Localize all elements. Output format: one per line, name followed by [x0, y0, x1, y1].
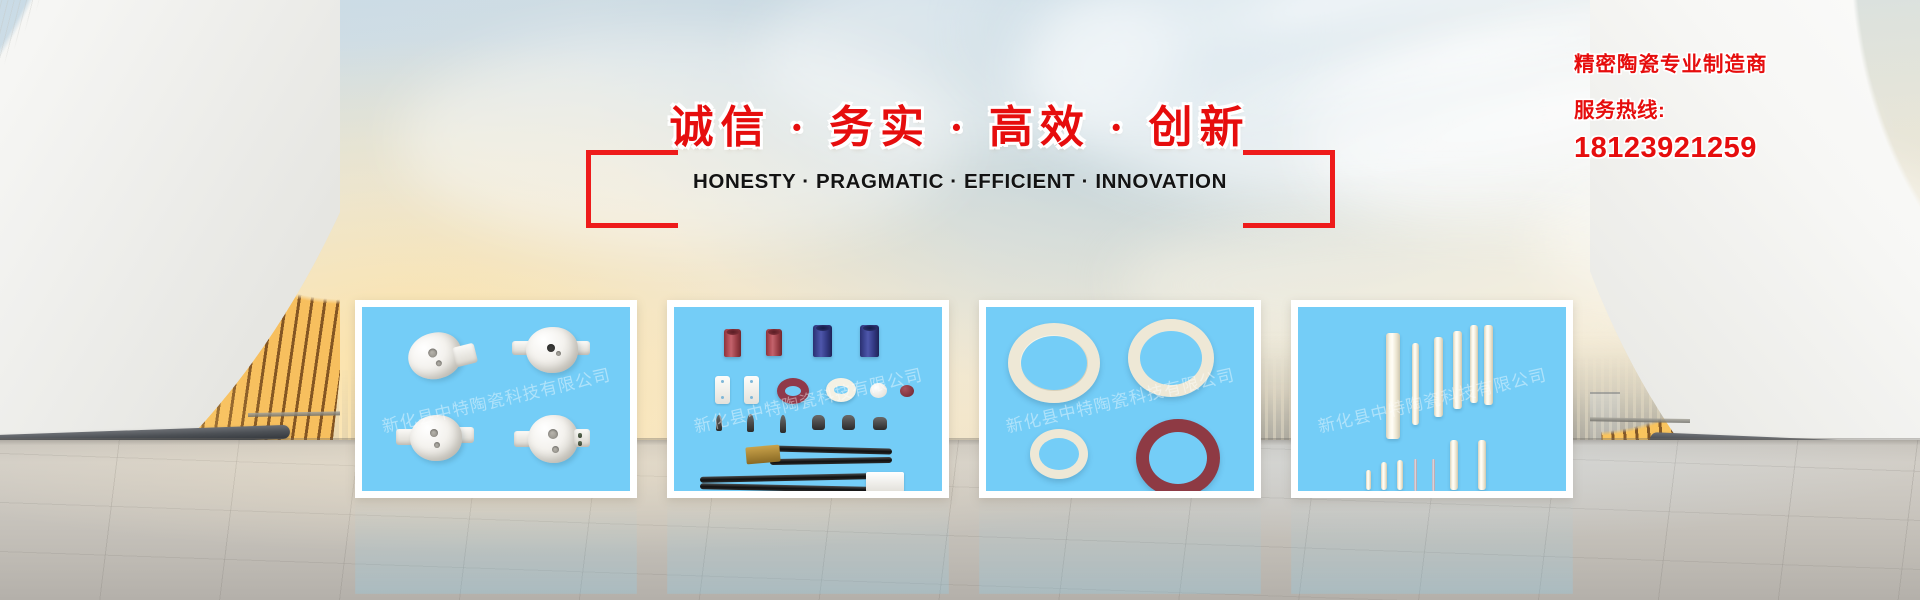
ring-bore	[1039, 438, 1079, 470]
ceramic-pin	[1366, 470, 1371, 490]
ring-bore	[1021, 336, 1087, 390]
white-connector-block	[866, 472, 904, 491]
ceramic-pin	[1397, 460, 1403, 490]
lead-wire	[700, 483, 870, 491]
ceramic-rod	[1434, 337, 1443, 417]
product-image-lamp-holders: 新化县中特陶瓷科技有限公司	[362, 307, 630, 491]
product-panel[interactable]: 新化县中特陶瓷科技有限公司	[1291, 300, 1573, 498]
panel-reflection	[355, 498, 637, 594]
tube-bore	[768, 329, 780, 335]
hotline-label: 服务热线:	[1574, 101, 1768, 122]
ceramic-tube	[766, 329, 782, 356]
ceramic-ring-small-maroon	[777, 378, 809, 404]
ceramic-cap-maroon	[900, 385, 914, 397]
ceramic-plate	[715, 376, 730, 404]
ceramic-rod	[1412, 343, 1419, 425]
ceramic-tube	[724, 329, 741, 357]
holder-hole	[556, 351, 561, 356]
holder-pin	[578, 441, 582, 446]
panel-reflection	[667, 498, 949, 594]
lamp-holder	[410, 415, 462, 461]
ceramic-cap-white	[870, 383, 887, 398]
ceramic-ring-maroon	[1136, 419, 1220, 491]
product-image-tubes-connectors: 新化县中特陶瓷科技有限公司	[674, 307, 942, 491]
holder-hole	[547, 344, 555, 352]
watermark: 新化县中特陶瓷科技有限公司	[1315, 361, 1549, 438]
ceramic-ring-large	[1128, 319, 1214, 397]
product-panel[interactable]: 新化县中特陶瓷科技有限公司	[355, 300, 637, 498]
hero-banner: 诚信 · 务实 · 高效 · 创新 HONESTY · PRAGMATIC · …	[0, 0, 1920, 600]
lead-wire	[770, 445, 892, 454]
ring-bore	[1149, 432, 1207, 484]
tube-bore	[726, 329, 739, 335]
product-panel[interactable]: 新化县中特陶瓷科技有限公司	[667, 300, 949, 498]
ceramic-ring-large	[1008, 323, 1100, 403]
ceramic-rod	[1470, 325, 1478, 403]
holder-hole	[435, 360, 442, 367]
ceramic-plate	[744, 376, 759, 404]
holder-hole	[430, 429, 438, 437]
company-tagline: 精密陶瓷专业制造商	[1574, 55, 1768, 76]
holder-tab	[574, 429, 590, 447]
holder-hole	[548, 429, 558, 439]
metal-terminal	[812, 415, 825, 430]
panel-reflection	[979, 498, 1261, 594]
product-panel[interactable]: 新化县中特陶瓷科技有限公司	[979, 300, 1261, 498]
ceramic-tube	[860, 325, 879, 357]
ceramic-rod	[1484, 325, 1493, 405]
metal-clip	[747, 414, 754, 432]
tube-bore	[816, 325, 830, 331]
ceramic-tube	[813, 325, 832, 357]
holder-tab	[452, 343, 478, 368]
metal-clip	[716, 415, 722, 431]
metal-terminal	[873, 417, 887, 430]
ceramic-pin-thin	[1414, 459, 1417, 491]
panel-reflection	[1291, 498, 1573, 594]
product-image-ceramic-rods: 新化县中特陶瓷科技有限公司	[1298, 307, 1566, 491]
hotline-number[interactable]: 18123921259	[1574, 134, 1768, 163]
holder-pin	[578, 433, 582, 438]
contact-block: 精密陶瓷专业制造商 服务热线: 18123921259	[1574, 55, 1768, 163]
ceramic-pin-thin	[1432, 459, 1435, 491]
metal-clip	[780, 415, 786, 433]
ceramic-rod	[1453, 331, 1462, 409]
ceramic-ring-small	[1030, 429, 1088, 479]
lamp-holder	[526, 327, 578, 373]
ceramic-pin	[1478, 440, 1486, 490]
plate-hole	[750, 396, 753, 399]
plate-hole	[721, 380, 724, 383]
lamp-holder	[528, 415, 578, 463]
product-image-ceramic-rings: 新化县中特陶瓷科技有限公司	[986, 307, 1254, 491]
plate-hole	[750, 380, 753, 383]
holder-hole	[434, 442, 440, 448]
lead-wire	[700, 473, 870, 483]
plate-hole	[721, 396, 724, 399]
ceramic-rod	[1386, 333, 1400, 439]
holder-hole	[552, 446, 559, 453]
ring-bore	[1140, 331, 1202, 385]
ceramic-pin	[1450, 440, 1458, 490]
metal-terminal	[842, 415, 855, 430]
ceramic-ring-small-white	[826, 378, 856, 402]
brass-connector	[745, 445, 780, 465]
slogan-english: HONESTY · PRAGMATIC · EFFICIENT · INNOVA…	[0, 170, 1920, 194]
ceramic-pin	[1381, 462, 1387, 490]
tube-bore	[863, 325, 877, 331]
lead-wire	[770, 457, 892, 465]
holder-hole	[427, 348, 438, 359]
product-gallery: 新化县中特陶瓷科技有限公司	[355, 300, 1573, 498]
